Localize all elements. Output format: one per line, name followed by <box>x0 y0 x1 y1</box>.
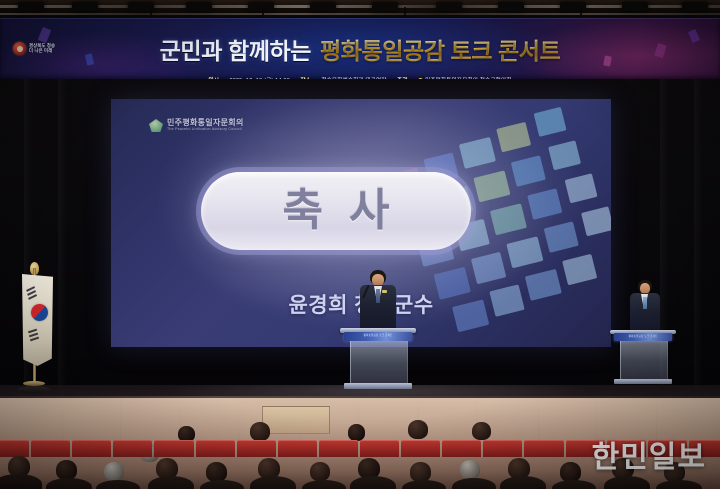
publisher-watermark: 한민일보 <box>592 443 706 473</box>
stage-light-fixture <box>372 2 398 11</box>
mosaic-tile <box>471 252 506 284</box>
theater-seat <box>524 440 563 457</box>
flag-stand-base <box>18 386 50 393</box>
audience-shoulders <box>350 476 396 489</box>
wall-panel <box>358 398 419 444</box>
audience-shoulders <box>552 480 596 489</box>
theater-seat <box>401 440 440 457</box>
audience-head <box>250 422 270 441</box>
slide-organization-logo: 민주평화통일자문회의 The Peaceful Unification Advi… <box>149 119 244 132</box>
center-podium: 평화통일공감 토크 콘서트 <box>336 270 420 400</box>
mosaic-tile <box>581 206 611 236</box>
audience-shoulders <box>452 478 496 489</box>
mosaic-tile <box>473 170 510 202</box>
mosaic-tile <box>544 221 579 253</box>
unification-council-emblem-icon <box>149 119 163 132</box>
flag-trigram-bar <box>30 337 39 341</box>
theater-seat <box>196 440 235 457</box>
stage-light-fixture <box>436 2 462 11</box>
theater-seat <box>31 440 70 457</box>
audience-head <box>104 462 124 481</box>
right-podium: 평화통일공감 토크 콘서트 <box>608 280 680 395</box>
curtain-fold <box>694 79 708 397</box>
wall-panel <box>656 398 720 444</box>
podium-banner-text: 평화통일공감 토크 콘서트 <box>614 334 672 338</box>
auditorium-stage-photograph: 경상북도 청송 더 나은 미래 군민과 함께하는평화통일공감 토크 콘서트 일시… <box>0 0 720 489</box>
flag-trigram-bar <box>28 294 37 299</box>
korean-national-flag <box>12 262 56 404</box>
audience-shoulders <box>46 478 92 489</box>
theater-seat <box>483 440 522 457</box>
stage-light-fixture <box>248 2 274 11</box>
audience-shoulders <box>604 476 650 489</box>
mosaic-tile <box>511 155 546 187</box>
mosaic-tile <box>562 254 597 286</box>
mosaic-tile <box>496 122 531 153</box>
event-title-banner: 경상북도 청송 더 나은 미래 군민과 함께하는평화통일공감 토크 콘서트 일시… <box>0 18 720 79</box>
taeguk-symbol-icon <box>29 302 50 323</box>
audience-head <box>206 462 227 482</box>
audience-shoulders <box>656 480 702 489</box>
theater-seat <box>113 440 152 457</box>
theater-seat <box>154 440 193 457</box>
audience-shoulders <box>302 480 346 489</box>
banner-title-part-1: 군민과 함께하는 <box>160 38 311 64</box>
audience-head <box>410 462 431 482</box>
slide-headline-plate: 축사 <box>201 172 471 250</box>
podium-body <box>620 341 668 381</box>
person-tie <box>643 297 647 309</box>
stage-light-fixture <box>186 2 212 11</box>
truss-beam-lower <box>0 13 720 15</box>
podium-front-banner: 평화통일공감 토크 콘서트 <box>614 333 672 341</box>
audience-head <box>310 462 330 481</box>
audience-head <box>348 424 365 441</box>
slide-headline-text: 축사 <box>257 189 416 233</box>
audience-shoulders <box>500 476 546 489</box>
theater-seat <box>0 440 29 457</box>
theater-seat <box>237 440 276 457</box>
speaker-person-center <box>358 270 398 332</box>
wall-panel <box>120 398 181 444</box>
theater-seat <box>360 440 399 457</box>
person-tie <box>376 289 380 303</box>
theater-seat <box>72 440 111 457</box>
stage-light-fixture <box>682 2 708 11</box>
theater-seat <box>319 440 358 457</box>
audience-shoulders <box>96 480 140 489</box>
podium-banner-text: 평화통일공감 토크 콘서트 <box>344 333 412 337</box>
theater-seat <box>442 440 481 457</box>
stage-light-fixture <box>560 2 586 11</box>
mosaic-tile <box>565 173 598 203</box>
audience-head <box>408 420 428 439</box>
mosaic-tile <box>534 107 567 137</box>
mosaic-tile <box>548 140 581 170</box>
wall-panel <box>596 398 657 444</box>
podium-body <box>350 341 408 385</box>
stage-light-fixture <box>18 2 44 11</box>
podium-base <box>614 379 672 384</box>
speaker-person-right <box>628 280 662 332</box>
wall-panel <box>538 398 597 444</box>
podium-base <box>344 383 412 389</box>
flag-cloth <box>22 274 53 366</box>
audience-shoulders <box>0 474 42 489</box>
mosaic-tile <box>506 236 543 268</box>
stage-light-fixture <box>498 2 524 11</box>
mosaic-tile <box>527 188 562 220</box>
audience-head <box>560 462 581 482</box>
theater-seat <box>278 440 317 457</box>
mosaic-tile <box>490 203 527 235</box>
person-name-tag <box>382 290 387 293</box>
audience-shoulders <box>402 480 446 489</box>
podium-front-banner: 평화통일공감 토크 콘서트 <box>344 332 412 341</box>
audience-shoulders <box>250 476 296 489</box>
mosaic-tile <box>459 137 496 169</box>
wall-panel <box>0 398 63 444</box>
curtain-fold <box>58 79 72 397</box>
audience-head <box>460 460 480 479</box>
stage-light-fixture <box>310 2 336 11</box>
banner-title: 군민과 함께하는평화통일공감 토크 콘서트 <box>0 40 720 63</box>
audience-shoulders <box>148 476 194 489</box>
banner-title-part-2: 평화통일공감 토크 콘서트 <box>320 38 560 64</box>
truss-beam-upper <box>0 5 720 8</box>
slide-logo-english-name: The Peaceful Unification Advisory Counci… <box>167 128 244 132</box>
wall-panel <box>418 398 477 444</box>
wall-panel <box>62 398 121 444</box>
audience-shoulders <box>200 480 244 489</box>
audience-head <box>56 460 77 480</box>
stage-light-fixture <box>622 2 648 11</box>
lectern-table <box>262 406 330 434</box>
audience-head <box>472 422 491 440</box>
stage-light-fixture <box>72 2 98 11</box>
